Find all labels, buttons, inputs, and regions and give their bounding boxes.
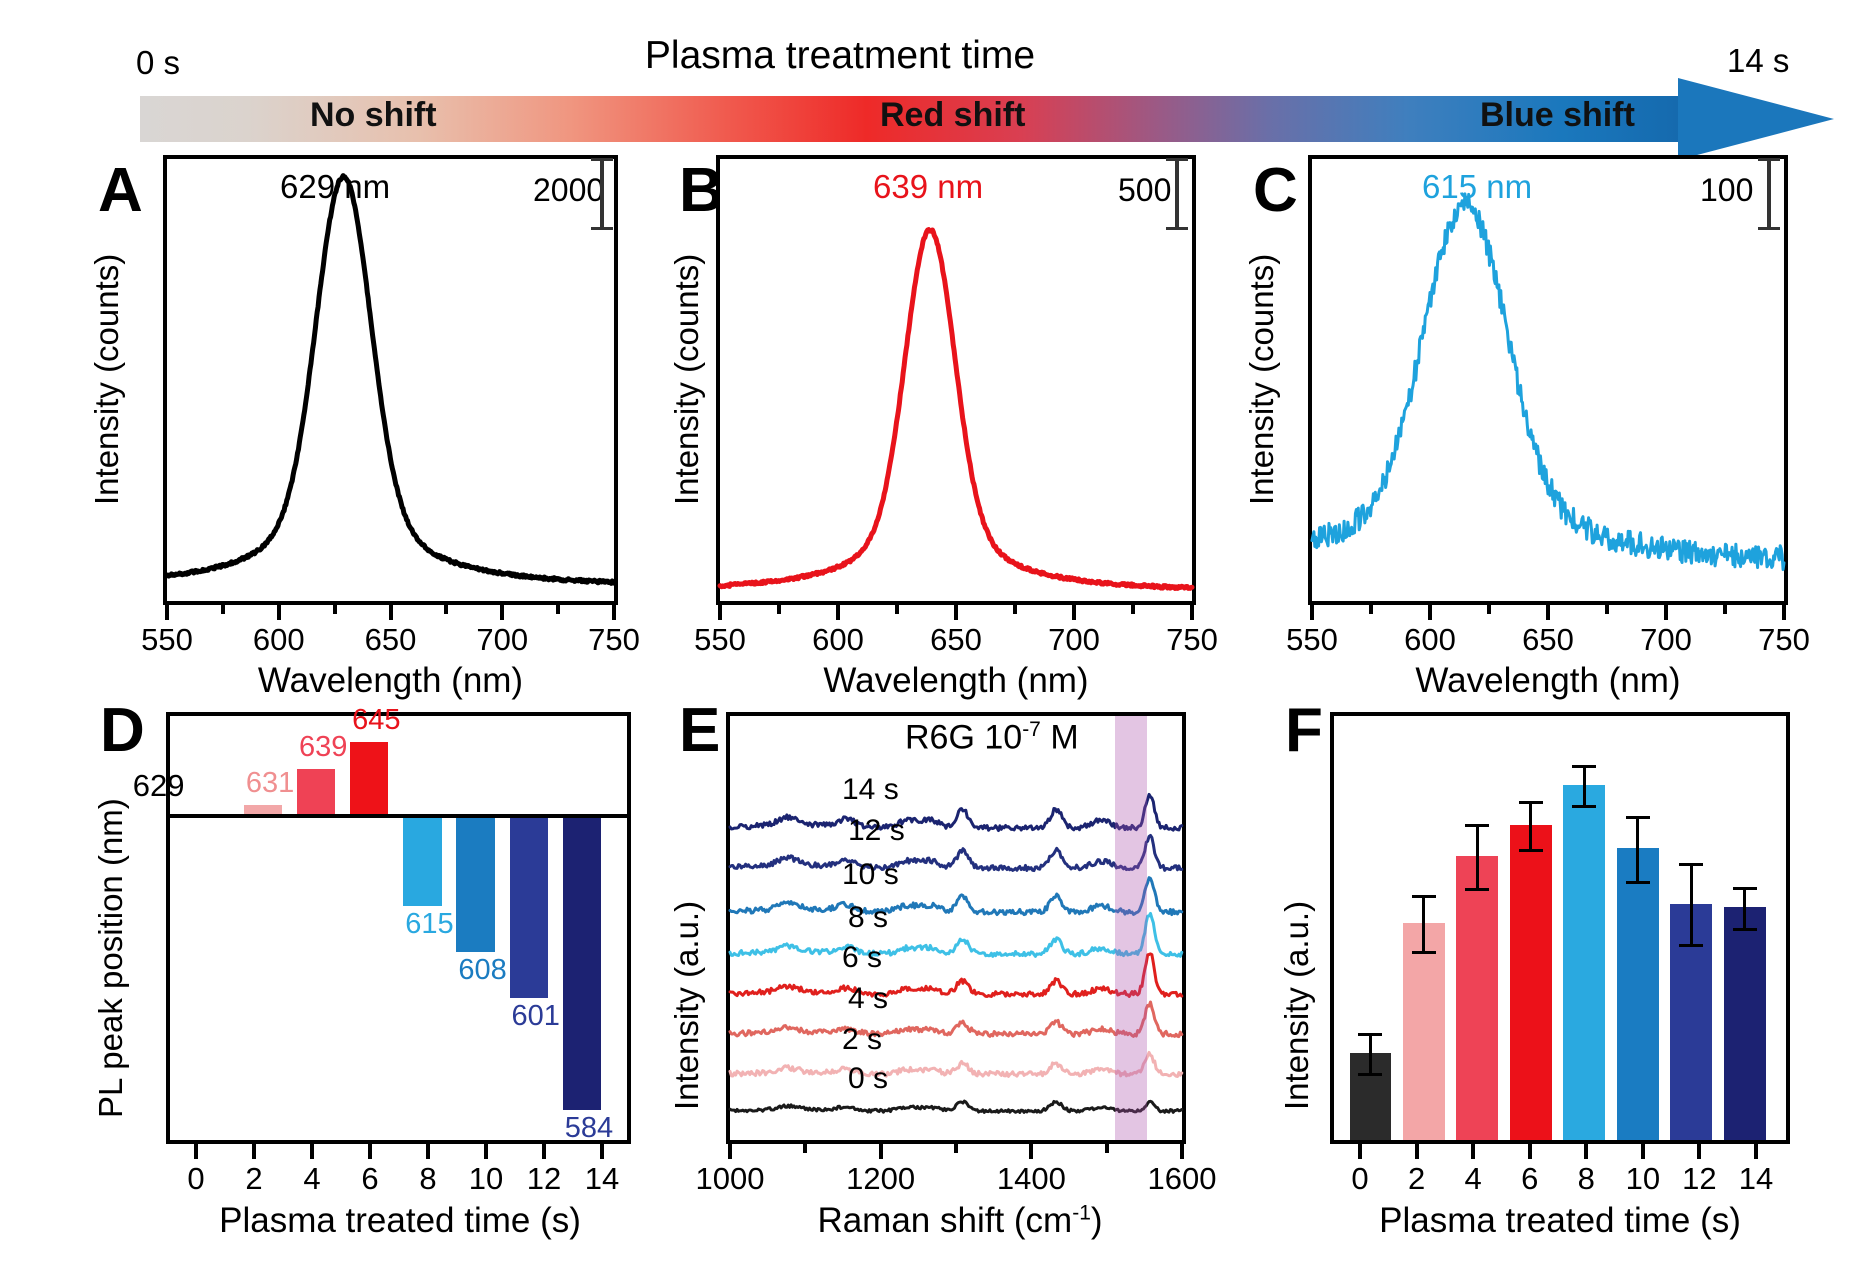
- panel-f-error-bar: [1422, 895, 1425, 951]
- panel-d-bar-label: 584: [565, 1112, 613, 1145]
- panel-e-title: R6G 10-7 M: [905, 718, 1079, 757]
- panel-f-error-cap: [1626, 816, 1650, 819]
- axis-tick: [1546, 605, 1550, 620]
- axis-minor-tick: [1723, 605, 1727, 614]
- axis-minor-tick: [1487, 605, 1491, 614]
- panel-a-letter: A: [98, 160, 143, 222]
- banner-start-label: 0 s: [136, 44, 180, 82]
- panel-f-error-cap: [1519, 801, 1543, 804]
- panel-e-series-label: 10 s: [842, 858, 899, 892]
- panel-a-curve: [167, 159, 614, 601]
- panel-e-title-base: R6G 10: [905, 718, 1022, 756]
- panel-e-title-sup: -7: [1022, 718, 1041, 741]
- panel-e-title-tail: M: [1041, 718, 1079, 756]
- axis-minor-tick: [444, 605, 448, 614]
- panel-f-error-cap: [1572, 805, 1596, 808]
- axis-minor-tick: [556, 605, 560, 614]
- panel-d-bar: [510, 814, 548, 998]
- axis-tick: [879, 1144, 883, 1159]
- axis-tick: [836, 605, 840, 620]
- panel-e-highlight-band: [1115, 716, 1147, 1140]
- panel-f-bar: [1510, 825, 1552, 1140]
- panel-f-error-bar: [1476, 824, 1479, 888]
- panel-f-error-cap: [1465, 888, 1489, 891]
- panel-f-error-bar: [1583, 765, 1586, 805]
- panel-f-error-bar: [1529, 801, 1532, 849]
- axis-tick-label: 14: [1711, 1161, 1801, 1197]
- axis-tick-label: 700: [1029, 622, 1119, 658]
- panel-d-bars: 629631639645615608601584: [170, 716, 627, 1140]
- axis-tick: [728, 1144, 732, 1159]
- axis-tick-label: 1400: [986, 1161, 1076, 1197]
- panel-e-ylabel: Intensity (a.u.): [668, 901, 706, 1110]
- panel-e-series-label: 4 s: [848, 982, 888, 1016]
- axis-tick: [542, 1144, 546, 1159]
- panel-b-peak-label: 639 nm: [873, 168, 983, 206]
- axis-tick: [1664, 605, 1668, 620]
- axis-tick-label: 650: [346, 622, 436, 658]
- plasma-time-banner: Plasma treatment time 0 s 14 s No shift …: [0, 0, 1862, 160]
- axis-tick-label: 1000: [685, 1161, 775, 1197]
- panel-c-ylabel: Intensity (counts): [1243, 254, 1281, 505]
- panel-d-reference-line: [170, 814, 627, 818]
- axis-tick-label: 700: [457, 622, 547, 658]
- axis-tick: [426, 1144, 430, 1159]
- axis-tick: [165, 605, 169, 620]
- panel-f-bars: [1334, 716, 1786, 1140]
- axis-tick-label: 750: [569, 622, 659, 658]
- panel-e-letter: E: [679, 700, 720, 762]
- panel-a-scalebar: [600, 158, 604, 230]
- panel-a-scale-label: 2000: [533, 172, 604, 209]
- axis-tick: [1641, 1144, 1645, 1159]
- panel-d-bar: [297, 769, 335, 814]
- axis-tick-label: 14: [557, 1161, 647, 1197]
- axis-tick: [500, 605, 504, 620]
- panel-e-series-label: 6 s: [842, 941, 882, 975]
- axis-tick: [1180, 1144, 1184, 1159]
- panel-f-error-cap: [1733, 887, 1757, 890]
- panel-e-series-label: 8 s: [848, 901, 888, 935]
- panel-b-xlabel: Wavelength (nm): [716, 661, 1196, 701]
- axis-tick: [277, 605, 281, 620]
- axis-tick: [612, 605, 616, 620]
- axis-tick: [1415, 1144, 1419, 1159]
- panel-f-error-cap: [1465, 824, 1489, 827]
- axis-tick-label: 550: [122, 622, 212, 658]
- panel-f-error-bar: [1743, 887, 1746, 927]
- panel-f-error-bar: [1636, 816, 1639, 880]
- panel-c-xlabel: Wavelength (nm): [1308, 661, 1788, 701]
- axis-tick: [484, 1144, 488, 1159]
- banner-segment-no-shift: No shift: [310, 96, 437, 135]
- axis-tick: [1029, 1144, 1033, 1159]
- axis-tick-label: 650: [1503, 622, 1593, 658]
- panel-b-ylabel: Intensity (counts): [668, 254, 706, 505]
- panel-b-plot: [716, 155, 1196, 605]
- axis-tick: [194, 1144, 198, 1159]
- panel-e-xlabel: Raman shift (cm-1): [700, 1201, 1220, 1241]
- axis-tick: [1782, 605, 1786, 620]
- axis-minor-tick: [1013, 605, 1017, 614]
- axis-minor-tick: [221, 605, 225, 614]
- panel-f-bar: [1617, 848, 1659, 1140]
- axis-tick-label: 600: [234, 622, 324, 658]
- axis-tick-label: 1200: [836, 1161, 926, 1197]
- panel-e-series-label: 14 s: [842, 773, 899, 807]
- axis-tick: [954, 605, 958, 620]
- panel-f-bar: [1456, 856, 1498, 1140]
- panel-e-plot: 0 s2 s4 s6 s8 s10 s12 s14 s: [726, 712, 1186, 1144]
- panel-d-bar: [350, 742, 388, 814]
- panel-e-xlabel-sup: -1: [1072, 1201, 1091, 1224]
- panel-c-peak-label: 615 nm: [1422, 168, 1532, 206]
- panel-d-bar: [563, 814, 601, 1110]
- axis-tick: [1428, 605, 1432, 620]
- panel-f-xlabel: Plasma treated time (s): [1310, 1201, 1810, 1241]
- panel-c-scalebar: [1767, 158, 1771, 230]
- panel-d-bar-label: 629: [133, 768, 185, 804]
- axis-minor-tick: [1105, 1144, 1109, 1153]
- panel-f-error-cap: [1412, 951, 1436, 954]
- axis-tick: [1697, 1144, 1701, 1159]
- axis-tick: [1754, 1144, 1758, 1159]
- panel-a-peak-label: 629 nm: [280, 168, 390, 206]
- axis-minor-tick: [895, 605, 899, 614]
- panel-c-letter: C: [1253, 160, 1298, 222]
- axis-tick-label: 1600: [1137, 1161, 1227, 1197]
- banner-end-label: 14 s: [1727, 42, 1789, 80]
- panel-a-plot: [163, 155, 618, 605]
- panel-d-plot: 629631639645615608601584: [166, 712, 631, 1144]
- panel-d-bar: [456, 814, 494, 952]
- axis-minor-tick: [1131, 605, 1135, 614]
- panel-d-bar: [403, 814, 441, 906]
- panel-d-ylabel: PL peak position (nm): [92, 798, 130, 1118]
- axis-minor-tick: [333, 605, 337, 614]
- panel-d-xlabel: Plasma treated time (s): [150, 1201, 650, 1241]
- panel-f-error-cap: [1679, 944, 1703, 947]
- panel-d-bar-label: 601: [512, 1000, 560, 1033]
- panel-e-series-label: 12 s: [848, 814, 905, 848]
- banner-title: Plasma treatment time: [560, 34, 1120, 78]
- panel-a-ylabel: Intensity (counts): [88, 254, 126, 505]
- panel-f-error-cap: [1626, 881, 1650, 884]
- panel-f-error-cap: [1412, 895, 1436, 898]
- axis-tick: [1584, 1144, 1588, 1159]
- panel-f-bar: [1563, 785, 1605, 1140]
- panel-e-series-label: 0 s: [848, 1062, 888, 1096]
- axis-tick-label: 750: [1147, 622, 1237, 658]
- axis-tick: [718, 605, 722, 620]
- panel-d-letter: D: [100, 700, 145, 762]
- panel-c-curve: [1312, 159, 1784, 601]
- panel-b-scalebar: [1175, 158, 1179, 230]
- panel-f-bar: [1724, 907, 1766, 1140]
- axis-tick: [1190, 605, 1194, 620]
- axis-tick-label: 600: [1385, 622, 1475, 658]
- panel-e-xlabel-base: Raman shift (cm: [817, 1201, 1072, 1240]
- panel-c-scale-label: 100: [1700, 172, 1753, 209]
- panel-a-xlabel: Wavelength (nm): [163, 661, 618, 701]
- panel-f-error-cap: [1679, 863, 1703, 866]
- figure-root: Plasma treatment time 0 s 14 s No shift …: [0, 0, 1862, 1280]
- panel-e-series-label: 2 s: [842, 1023, 882, 1057]
- panel-f-error-bar: [1369, 1033, 1372, 1073]
- axis-tick-label: 750: [1739, 622, 1829, 658]
- panel-f-error-cap: [1572, 765, 1596, 768]
- panel-d-bar-label: 639: [299, 731, 347, 764]
- axis-tick: [1528, 1144, 1532, 1159]
- axis-tick: [1471, 1144, 1475, 1159]
- panel-d-bar-label: 631: [246, 767, 294, 800]
- axis-tick: [1072, 605, 1076, 620]
- axis-tick-label: 550: [675, 622, 765, 658]
- panel-d-bar-label: 645: [352, 704, 400, 737]
- panel-d-bar-label: 608: [458, 954, 506, 987]
- panel-b-curve: [720, 159, 1192, 601]
- panel-b-scale-label: 500: [1118, 172, 1171, 209]
- axis-tick-label: 650: [911, 622, 1001, 658]
- axis-minor-tick: [777, 605, 781, 614]
- axis-tick: [1310, 605, 1314, 620]
- axis-tick-label: 550: [1267, 622, 1357, 658]
- axis-tick: [389, 605, 393, 620]
- banner-segment-blue-shift: Blue shift: [1480, 96, 1635, 135]
- panel-f-error-cap: [1358, 1073, 1382, 1076]
- axis-minor-tick: [1369, 605, 1373, 614]
- panel-c-plot: [1308, 155, 1788, 605]
- panel-f-error-cap: [1733, 928, 1757, 931]
- banner-segment-red-shift: Red shift: [880, 96, 1025, 135]
- axis-minor-tick: [1605, 605, 1609, 614]
- arrow-head-icon: [1678, 78, 1834, 160]
- panel-f-error-cap: [1358, 1033, 1382, 1036]
- panel-e-xlabel-tail: ): [1091, 1201, 1103, 1240]
- panel-f-bar: [1403, 923, 1445, 1140]
- axis-tick: [310, 1144, 314, 1159]
- axis-tick: [368, 1144, 372, 1159]
- axis-tick: [1358, 1144, 1362, 1159]
- axis-tick: [252, 1144, 256, 1159]
- panel-f-ylabel: Intensity (a.u.): [1278, 901, 1316, 1110]
- panel-d-bar: [244, 805, 282, 814]
- axis-tick: [600, 1144, 604, 1159]
- axis-minor-tick: [954, 1144, 958, 1153]
- panel-f-letter: F: [1285, 700, 1323, 762]
- panel-f-plot: [1330, 712, 1790, 1144]
- axis-tick-label: 600: [793, 622, 883, 658]
- axis-minor-tick: [803, 1144, 807, 1153]
- panel-f-error-cap: [1519, 849, 1543, 852]
- panel-f-error-bar: [1690, 863, 1693, 943]
- axis-tick-label: 700: [1621, 622, 1711, 658]
- panel-d-bar-label: 615: [405, 908, 453, 941]
